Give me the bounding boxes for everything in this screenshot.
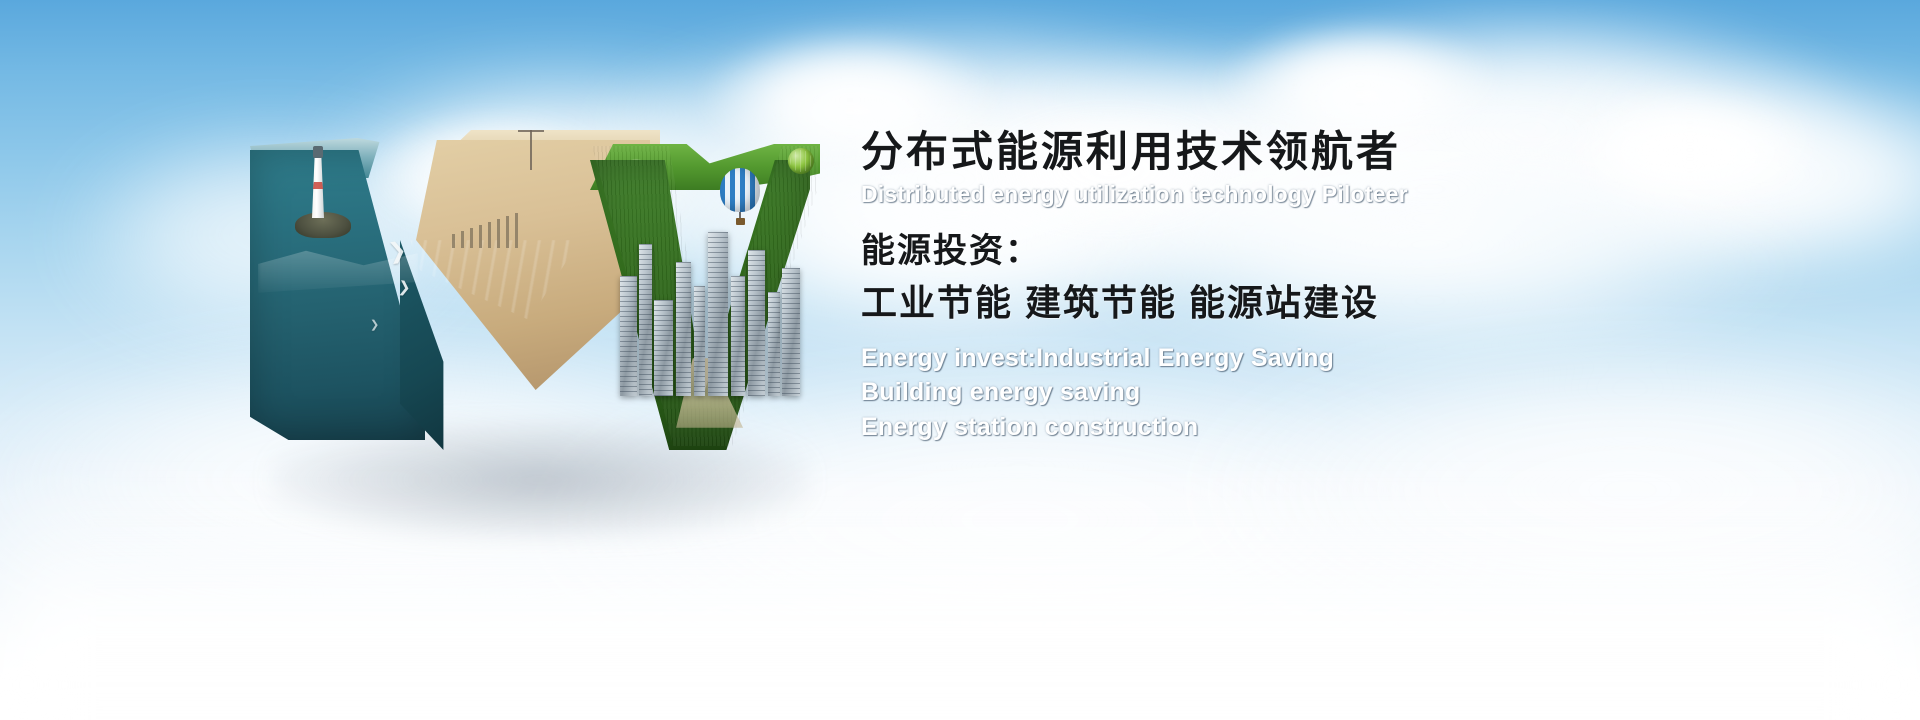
building <box>694 286 705 396</box>
headline-chinese: 分布式能源利用技术领航者 <box>861 128 1861 175</box>
energy-invest-label: 能源投资： <box>861 231 1861 272</box>
hot-air-balloon-icon <box>720 168 760 226</box>
balloon-envelope <box>720 168 760 212</box>
lighthouse-icon <box>305 142 331 226</box>
building <box>768 292 780 396</box>
lighthouse-stripe <box>312 182 324 189</box>
services-english-line-3: Energy station construction <box>861 410 1861 445</box>
city-skyline-icon <box>618 206 808 396</box>
w-letter-shape: ❯ ❯ ❯ <box>240 120 840 500</box>
bird-icon: ❯ <box>397 279 411 295</box>
bird-icon: ❯ <box>387 239 408 263</box>
desert-fence-icon <box>452 212 522 248</box>
green-globe-icon <box>788 148 814 174</box>
subtitle-english: Distributed energy utilization technolog… <box>861 181 1861 209</box>
building <box>676 262 691 396</box>
desert-pole-arm-icon <box>518 130 544 132</box>
desert-pole-icon <box>530 130 532 170</box>
lighthouse-lantern <box>313 146 323 158</box>
building <box>639 244 652 396</box>
building <box>748 250 765 396</box>
services-english-line-2: Building energy saving <box>861 375 1861 410</box>
w-letter-artwork: ❯ ❯ ❯ <box>240 120 840 500</box>
banner-copy: 分布式能源利用技术领航者 Distributed energy utilizat… <box>861 128 1861 444</box>
building <box>654 300 673 396</box>
building <box>782 268 800 396</box>
services-chinese: 工业节能 建筑节能 能源站建设 <box>861 281 1861 324</box>
bird-icon: ❯ <box>370 320 379 331</box>
building <box>708 232 728 396</box>
balloon-basket <box>736 218 745 225</box>
services-english-line-1: Energy invest:Industrial Energy Saving <box>861 341 1861 376</box>
building <box>620 276 637 396</box>
hero-banner: ❯ ❯ ❯ <box>0 0 1920 720</box>
building <box>731 276 745 396</box>
